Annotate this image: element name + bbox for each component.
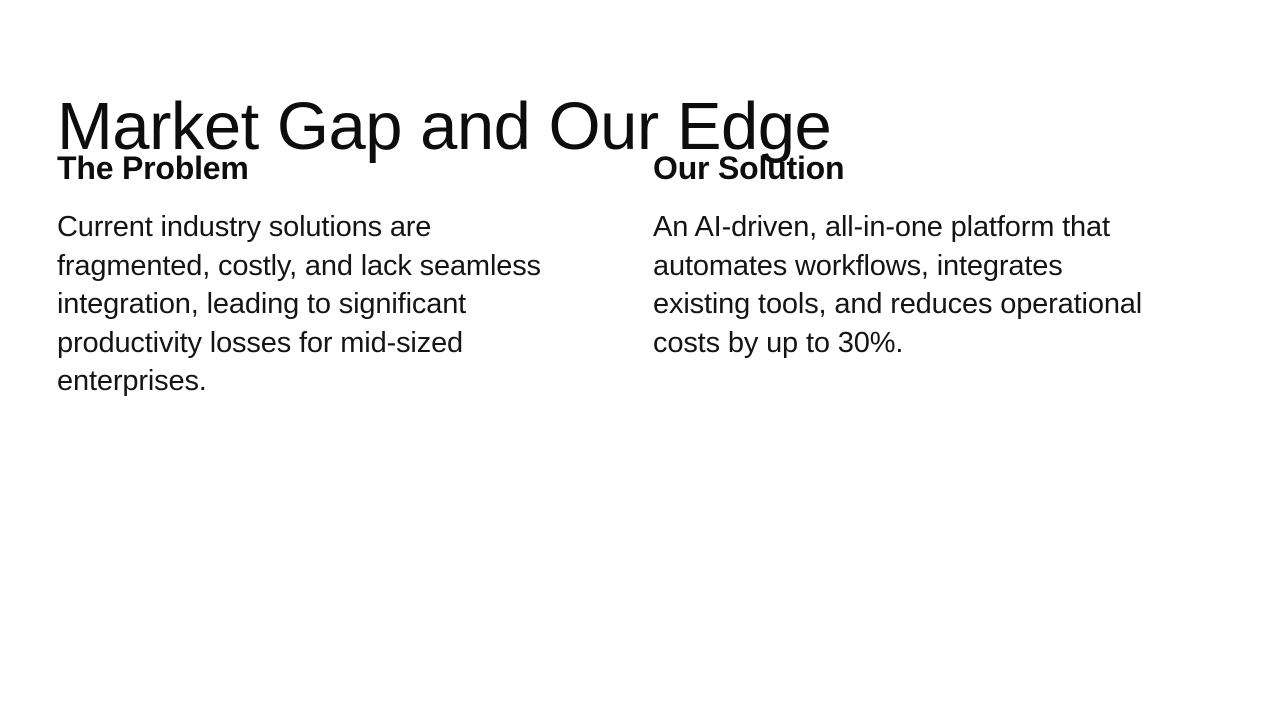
column-body-problem: Current industry solutions are fragmente… bbox=[57, 208, 557, 401]
column-heading-solution: Our Solution bbox=[653, 152, 1153, 184]
slide: Market Gap and Our Edge The Problem Curr… bbox=[0, 0, 1280, 720]
column-heading-problem: The Problem bbox=[57, 152, 557, 184]
column-solution: Our Solution An AI-driven, all-in-one pl… bbox=[653, 152, 1153, 362]
column-body-solution: An AI-driven, all-in-one platform that a… bbox=[653, 208, 1153, 362]
column-problem: The Problem Current industry solutions a… bbox=[57, 152, 557, 401]
content-columns: The Problem Current industry solutions a… bbox=[57, 152, 1223, 401]
